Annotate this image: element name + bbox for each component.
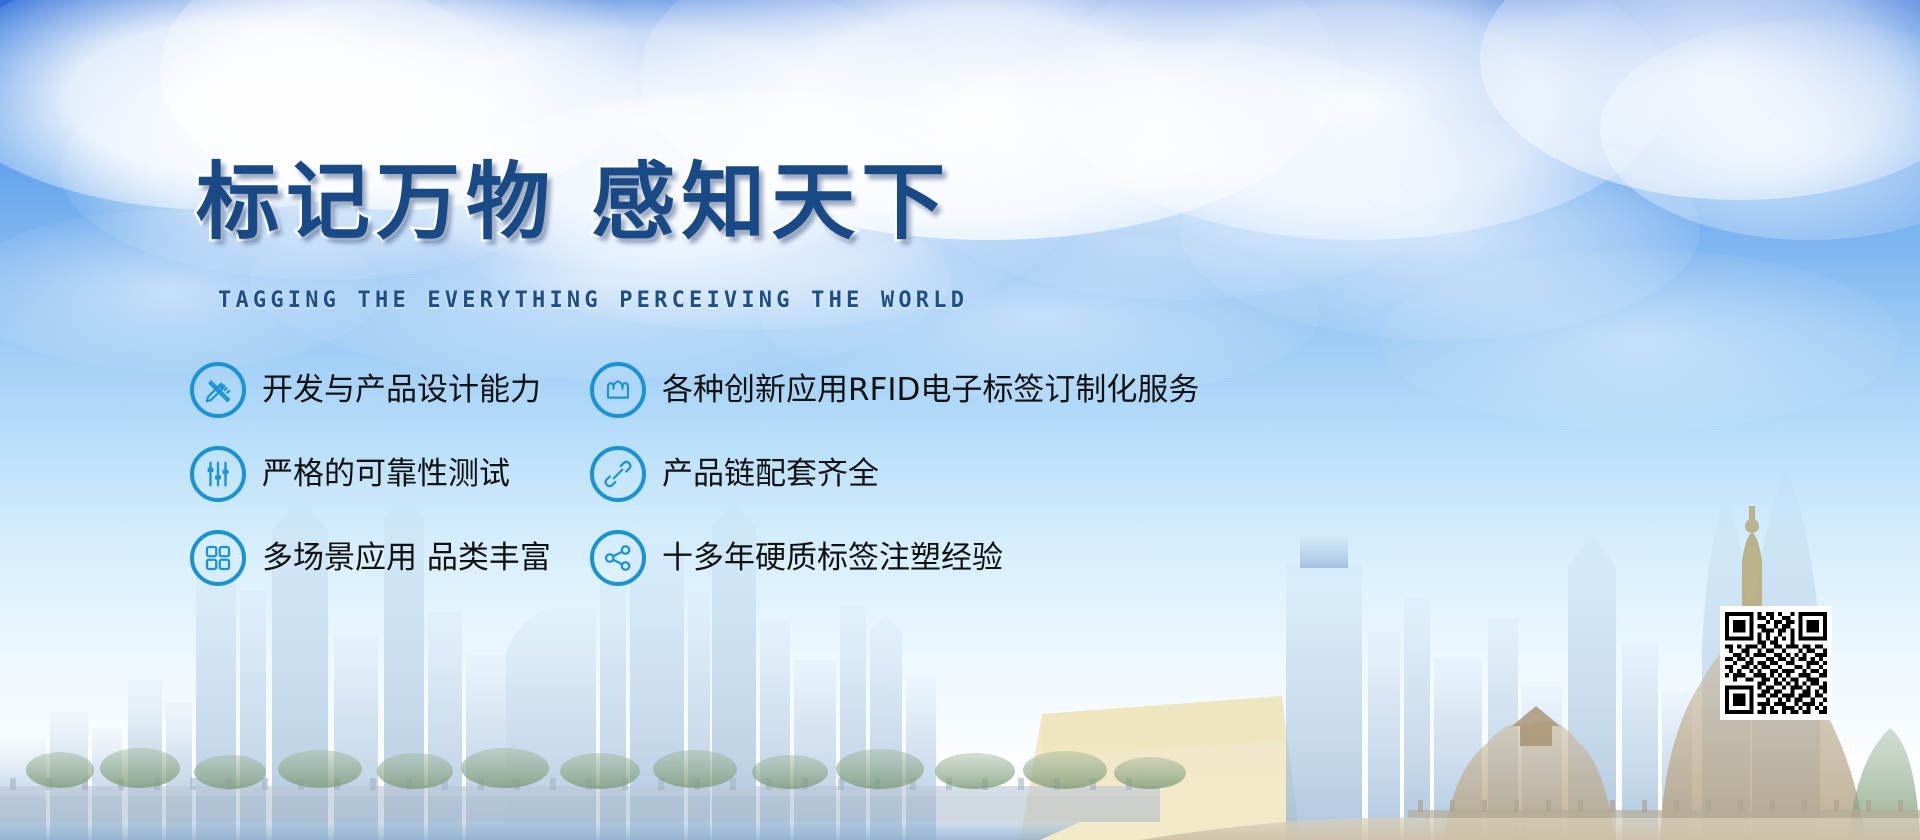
feature-list: 开发与产品设计能力 各种创新应用RFID电子标签订制化服务 [190,348,1290,600]
cloud-shape [1480,0,1920,200]
feature-column-right: 十多年硬质标签注塑经验 [590,516,1290,600]
feature-label: 各种创新应用RFID电子标签订制化服务 [662,375,1199,406]
feature-label: 多场景应用 品类丰富 [262,543,551,574]
cloud-shape [1180,120,1700,340]
qr-code[interactable] [1720,606,1832,720]
feature-column-left: 多场景应用 品类丰富 [190,516,590,600]
cloud-shape [1050,0,1670,240]
feature-row: 严格的可靠性测试 产品链配套齐全 [190,432,1290,516]
feature-column-left: 开发与产品设计能力 [190,348,590,432]
feature-column-right: 各种创新应用RFID电子标签订制化服务 [590,348,1290,432]
promotional-banner: 标记万物 感知天下 TAGGING THE EVERYTHING PERCEIV… [0,0,1920,840]
cloud-shape [1600,20,1920,240]
feature-item-multi-scenario-applications: 多场景应用 品类丰富 [190,516,590,600]
feature-label: 开发与产品设计能力 [262,375,541,406]
feature-row: 开发与产品设计能力 各种创新应用RFID电子标签订制化服务 [190,348,1290,432]
feature-item-reliability-testing: 严格的可靠性测试 [190,432,590,516]
sliders-icon [190,446,246,502]
feature-label: 产品链配套齐全 [662,459,879,490]
cloud-shape [1380,250,1900,430]
feature-label: 严格的可靠性测试 [262,459,510,490]
feature-row: 多场景应用 品类丰富 十多年硬质标签注塑经验 [190,516,1290,600]
feature-column-right: 产品链配套齐全 [590,432,1290,516]
crown-icon [590,362,646,418]
feature-item-complete-product-chain: 产品链配套齐全 [590,432,1290,516]
share-nodes-icon [590,530,646,586]
feature-item-injection-molding-experience: 十多年硬质标签注塑经验 [590,516,1290,600]
ruler-pencil-icon [190,362,246,418]
chain-link-icon [590,446,646,502]
page-title: 标记万物 感知天下 [196,158,951,247]
feature-item-design-capability: 开发与产品设计能力 [190,348,590,432]
cloud-shape [900,40,1460,300]
feature-item-rfid-custom-service: 各种创新应用RFID电子标签订制化服务 [590,348,1290,432]
grid-squares-icon [190,530,246,586]
page-subtitle: TAGGING THE EVERYTHING PERCEIVING THE WO… [218,288,968,313]
feature-label: 十多年硬质标签注塑经验 [662,543,1003,574]
feature-column-left: 严格的可靠性测试 [190,432,590,516]
